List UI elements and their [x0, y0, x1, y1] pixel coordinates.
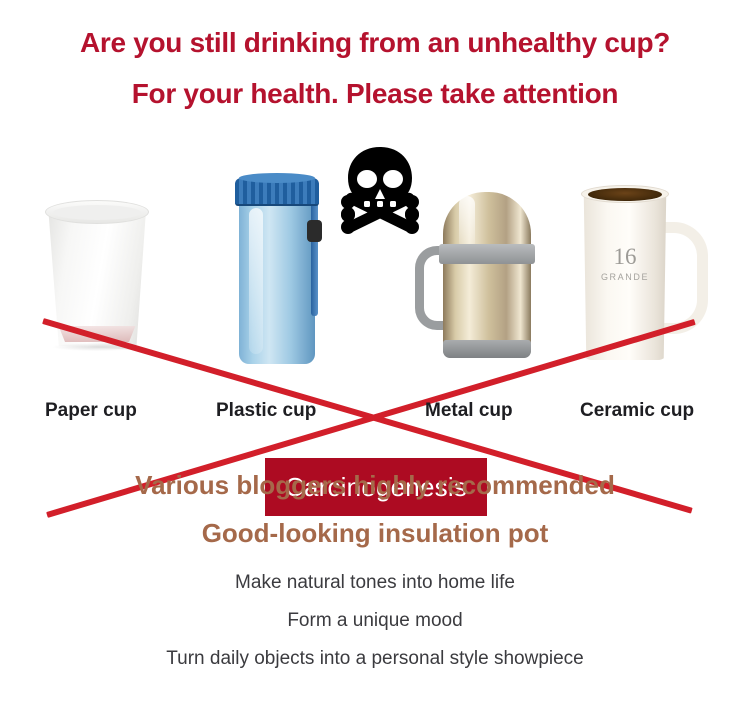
metal-thermos-icon [415, 182, 537, 360]
plastic-bottle-clip [307, 220, 322, 242]
ceramic-mug-coffee-surface [588, 188, 662, 201]
cup-label-paper: Paper cup [45, 400, 137, 422]
promo-line-1: Various bloggers highly recommended [0, 470, 750, 501]
paper-cup-rim-inner [53, 205, 141, 220]
metal-thermos-collar [439, 244, 535, 264]
ceramic-mug-size-number: 16 [582, 244, 668, 270]
plastic-bottle-highlight [249, 208, 263, 354]
plastic-bottle-icon [233, 172, 325, 364]
cup-label-row: Paper cup Plastic cup Metal cup Ceramic … [0, 400, 750, 430]
promo-line-2: Good-looking insulation pot [0, 518, 750, 549]
cup-label-plastic: Plastic cup [216, 400, 316, 422]
headline-line-1: Are you still drinking from an unhealthy… [0, 27, 750, 59]
body-copy-line-3: Turn daily objects into a personal style… [0, 648, 750, 670]
unhealthy-cups-illustration: 16 GRANDE Carcinogenesis [0, 140, 750, 395]
cup-label-metal: Metal cup [425, 400, 513, 422]
body-copy-line-1: Make natural tones into home life [0, 572, 750, 594]
promotional-poster: Are you still drinking from an unhealthy… [0, 0, 750, 710]
headline-line-2: For your health. Please take attention [0, 78, 750, 110]
plastic-bottle-cap-top [239, 173, 315, 183]
metal-thermos-base [443, 340, 531, 358]
ceramic-mug-size-word: GRANDE [582, 272, 668, 282]
cup-label-ceramic: Ceramic cup [580, 400, 694, 422]
skull-and-crossbones-icon [336, 145, 424, 237]
metal-thermos-body [443, 192, 531, 358]
metal-thermos-highlight [459, 196, 475, 250]
body-copy-line-2: Form a unique mood [0, 610, 750, 632]
